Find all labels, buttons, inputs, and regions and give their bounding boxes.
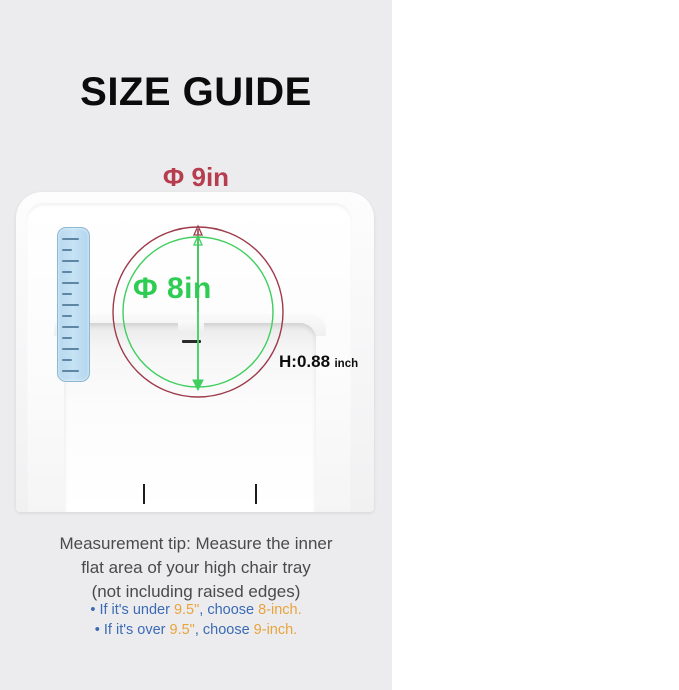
inner-diameter-label: Φ 8in [133, 272, 212, 306]
bullet-1-prefix: • If it's under [90, 602, 174, 618]
bullet-2-size: 9.5" [170, 622, 195, 638]
height-unit: inch [334, 358, 358, 370]
bullet-1-choice: 8-inch. [258, 602, 302, 618]
inner-arrow-head-bottom [193, 380, 203, 390]
tip-line-1: Measurement tip: Measure the inner [0, 532, 392, 556]
bullet-2-middle: , choose [195, 622, 254, 638]
size-guide-panel: SIZE GUIDE [0, 0, 392, 690]
bullet-2-choice: 9-inch. [254, 622, 298, 638]
page-title: SIZE GUIDE [0, 70, 392, 115]
outer-diameter-label: Φ 9in [0, 162, 392, 193]
height-value: H:0.88 [279, 352, 330, 371]
list-item: • If it's over 9.5", choose 9-inch. [0, 620, 392, 640]
height-label: H:0.88 inch [279, 352, 358, 372]
bullet-1-middle: , choose [199, 602, 258, 618]
product-size-guide-infographic: SIZE GUIDE [0, 0, 679, 690]
measurement-tip: Measurement tip: Measure the inner flat … [0, 532, 392, 604]
bullet-2-prefix: • If it's over [95, 622, 170, 638]
color-options-panel: Set of A variety of color options [392, 0, 679, 690]
size-recommendation-list: • If it's under 9.5", choose 8-inch. • I… [0, 600, 392, 640]
tip-line-2: flat area of your high chair tray [0, 556, 392, 580]
bullet-1-size: 9.5" [174, 602, 199, 618]
list-item: • If it's under 9.5", choose 8-inch. [0, 600, 392, 620]
